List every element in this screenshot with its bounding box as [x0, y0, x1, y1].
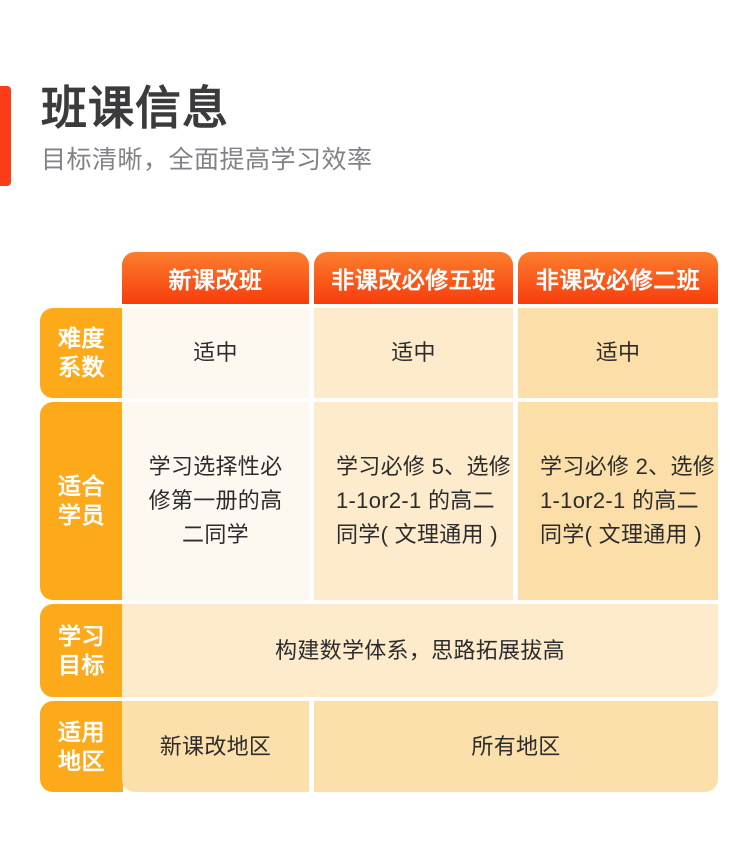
row-label-goal: 学习 目标 — [40, 604, 123, 697]
row-label-difficulty: 难度 系数 — [40, 308, 123, 398]
table-header-row: 新课改班 非课改必修五班 非课改必修二班 — [122, 252, 718, 304]
table-body: 新课改班 非课改必修五班 非课改必修二班 适中 适中 适中 学习选择性必修第一册… — [122, 252, 718, 792]
row-label-region-line-2: 地区 — [58, 747, 105, 776]
row-label-difficulty-line-2: 系数 — [58, 353, 105, 382]
cell-difficulty-col1: 适中 — [122, 308, 309, 398]
accent-bar — [0, 86, 11, 186]
row-label-goal-line-2: 目标 — [58, 651, 105, 680]
row-label-region-line-1: 适用 — [58, 718, 105, 747]
row-label-audience-line-2: 学员 — [58, 501, 105, 530]
row-label-difficulty-line-1: 难度 — [58, 324, 105, 353]
row-label-goal-line-1: 学习 — [58, 622, 105, 651]
row-label-audience-line-1: 适合 — [58, 472, 105, 501]
table-grid: 难度 系数 适合 学员 学习 目标 适用 地区 — [40, 252, 718, 792]
column-header-3: 非课改必修二班 — [518, 252, 718, 304]
class-info-table: 难度 系数 适合 学员 学习 目标 适用 地区 — [40, 252, 718, 792]
title-block: 班课信息 目标清晰，全面提高学习效率 — [41, 80, 373, 178]
cell-region-merged: 所有地区 — [314, 701, 718, 792]
cell-audience-col2: 学习必修 5、选修 1-1or2-1 的高二同学( 文理通用 ) — [314, 402, 513, 600]
row-label-region: 适用 地区 — [40, 701, 123, 792]
cell-difficulty-col2: 适中 — [314, 308, 513, 398]
cell-audience-col3: 学习必修 2、选修 1-1or2-1 的高二同学( 文理通用 ) — [518, 402, 718, 600]
cell-audience-col1: 学习选择性必修第一册的高二同学 — [122, 402, 309, 600]
page-header: 班课信息 目标清晰，全面提高学习效率 — [0, 80, 750, 195]
cell-goal-merged: 构建数学体系，思路拓展拔高 — [122, 604, 718, 697]
row-label-audience: 适合 学员 — [40, 402, 123, 600]
column-header-2: 非课改必修五班 — [314, 252, 513, 304]
column-header-1: 新课改班 — [122, 252, 309, 304]
page-title: 班课信息 — [41, 80, 373, 136]
cell-difficulty-col3: 适中 — [518, 308, 718, 398]
page-subtitle: 目标清晰，全面提高学习效率 — [41, 142, 373, 178]
cell-region-col1: 新课改地区 — [122, 701, 309, 792]
